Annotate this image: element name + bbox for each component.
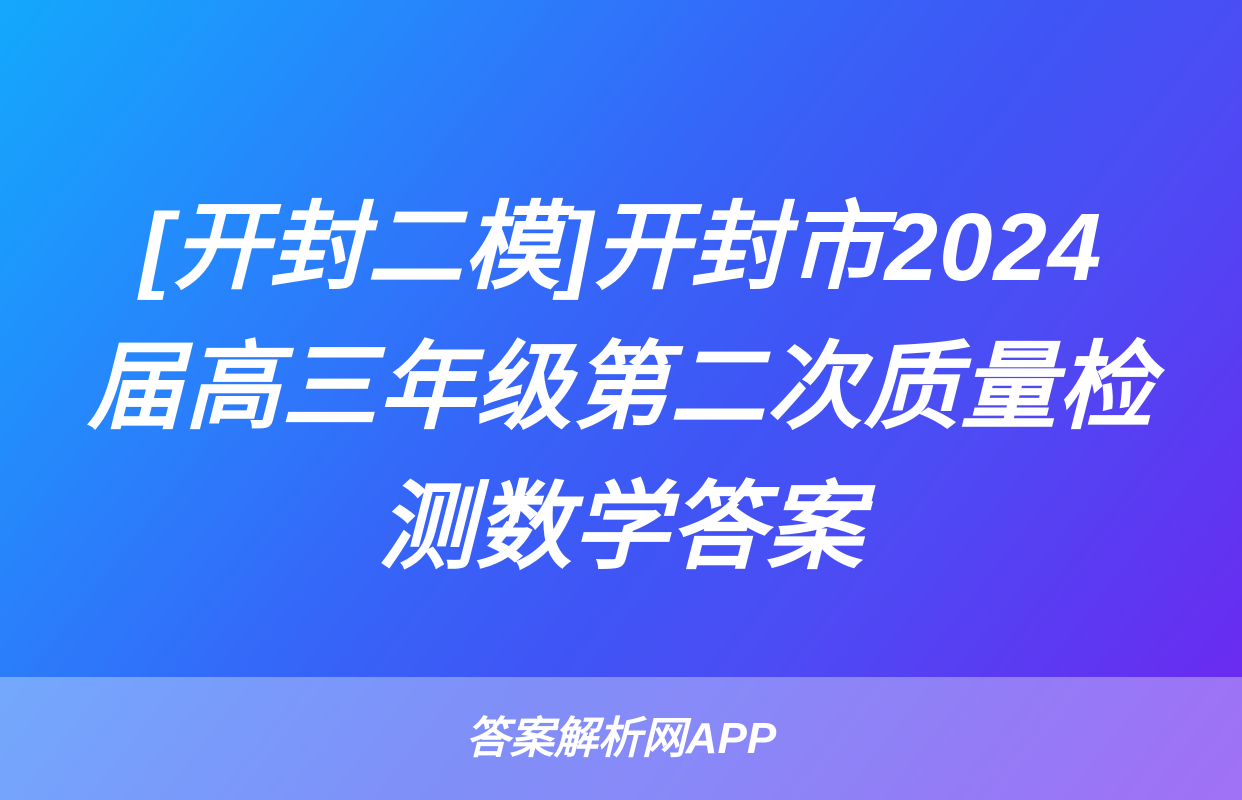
page-title: [开封二模]开封市2024 届高三年级第二次质量检 测数学答案 <box>0 178 1242 598</box>
cover-card: [开封二模]开封市2024 届高三年级第二次质量检 测数学答案 答案解析网APP <box>0 0 1242 800</box>
title-line-2: 届高三年级第二次质量检 <box>46 318 1196 458</box>
footer-band: 答案解析网APP <box>0 677 1242 800</box>
title-line-1: [开封二模]开封市2024 <box>46 178 1196 318</box>
title-line-3: 测数学答案 <box>46 458 1196 598</box>
watermark-brand: 答案解析网APP <box>0 713 1242 765</box>
